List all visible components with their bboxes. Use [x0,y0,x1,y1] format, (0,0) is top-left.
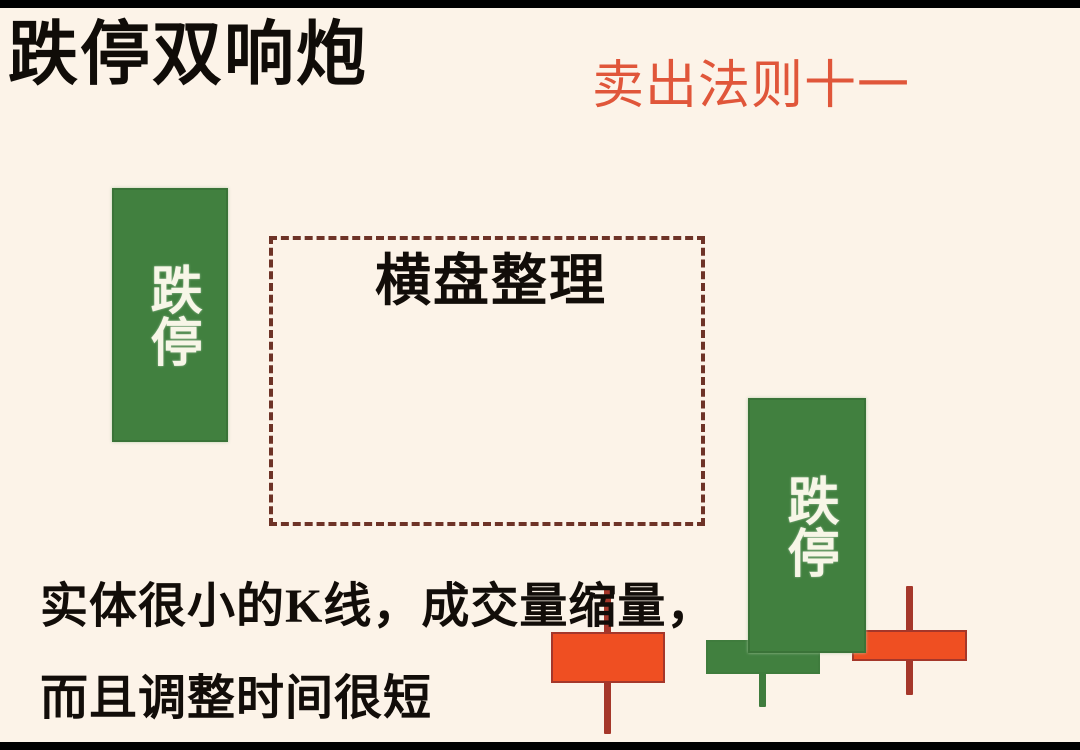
slide-canvas: 跌停双响炮 卖出法则十一 跌停 横盘整理 跌停 实体很小的K线，成交量缩量， [0,8,1080,742]
letterbox-bar-top [0,0,1080,8]
screenshot-stage: 跌停双响炮 卖出法则十一 跌停 横盘整理 跌停 实体很小的K线，成交量缩量， [0,0,1080,750]
limit-down-label-right: 跌停 [778,474,836,578]
limit-down-block-left: 跌停 [112,188,228,442]
limit-down-block-right: 跌停 [748,398,866,653]
consolidation-box: 横盘整理 [269,236,705,526]
candlestick-3-body [852,630,967,661]
candlestick-3 [852,586,967,695]
caption-line-2: 而且调整时间很短 [40,675,432,723]
page-title: 跌停双响炮 [8,21,368,91]
consolidation-label: 横盘整理 [273,254,709,310]
page-subtitle: 卖出法则十一 [592,60,910,112]
candlestick-1-body [551,632,665,683]
letterbox-bar-bottom [0,742,1080,750]
caption-line-1: 实体很小的K线，成交量缩量， [40,583,715,631]
limit-down-label-left: 跌停 [141,263,199,367]
